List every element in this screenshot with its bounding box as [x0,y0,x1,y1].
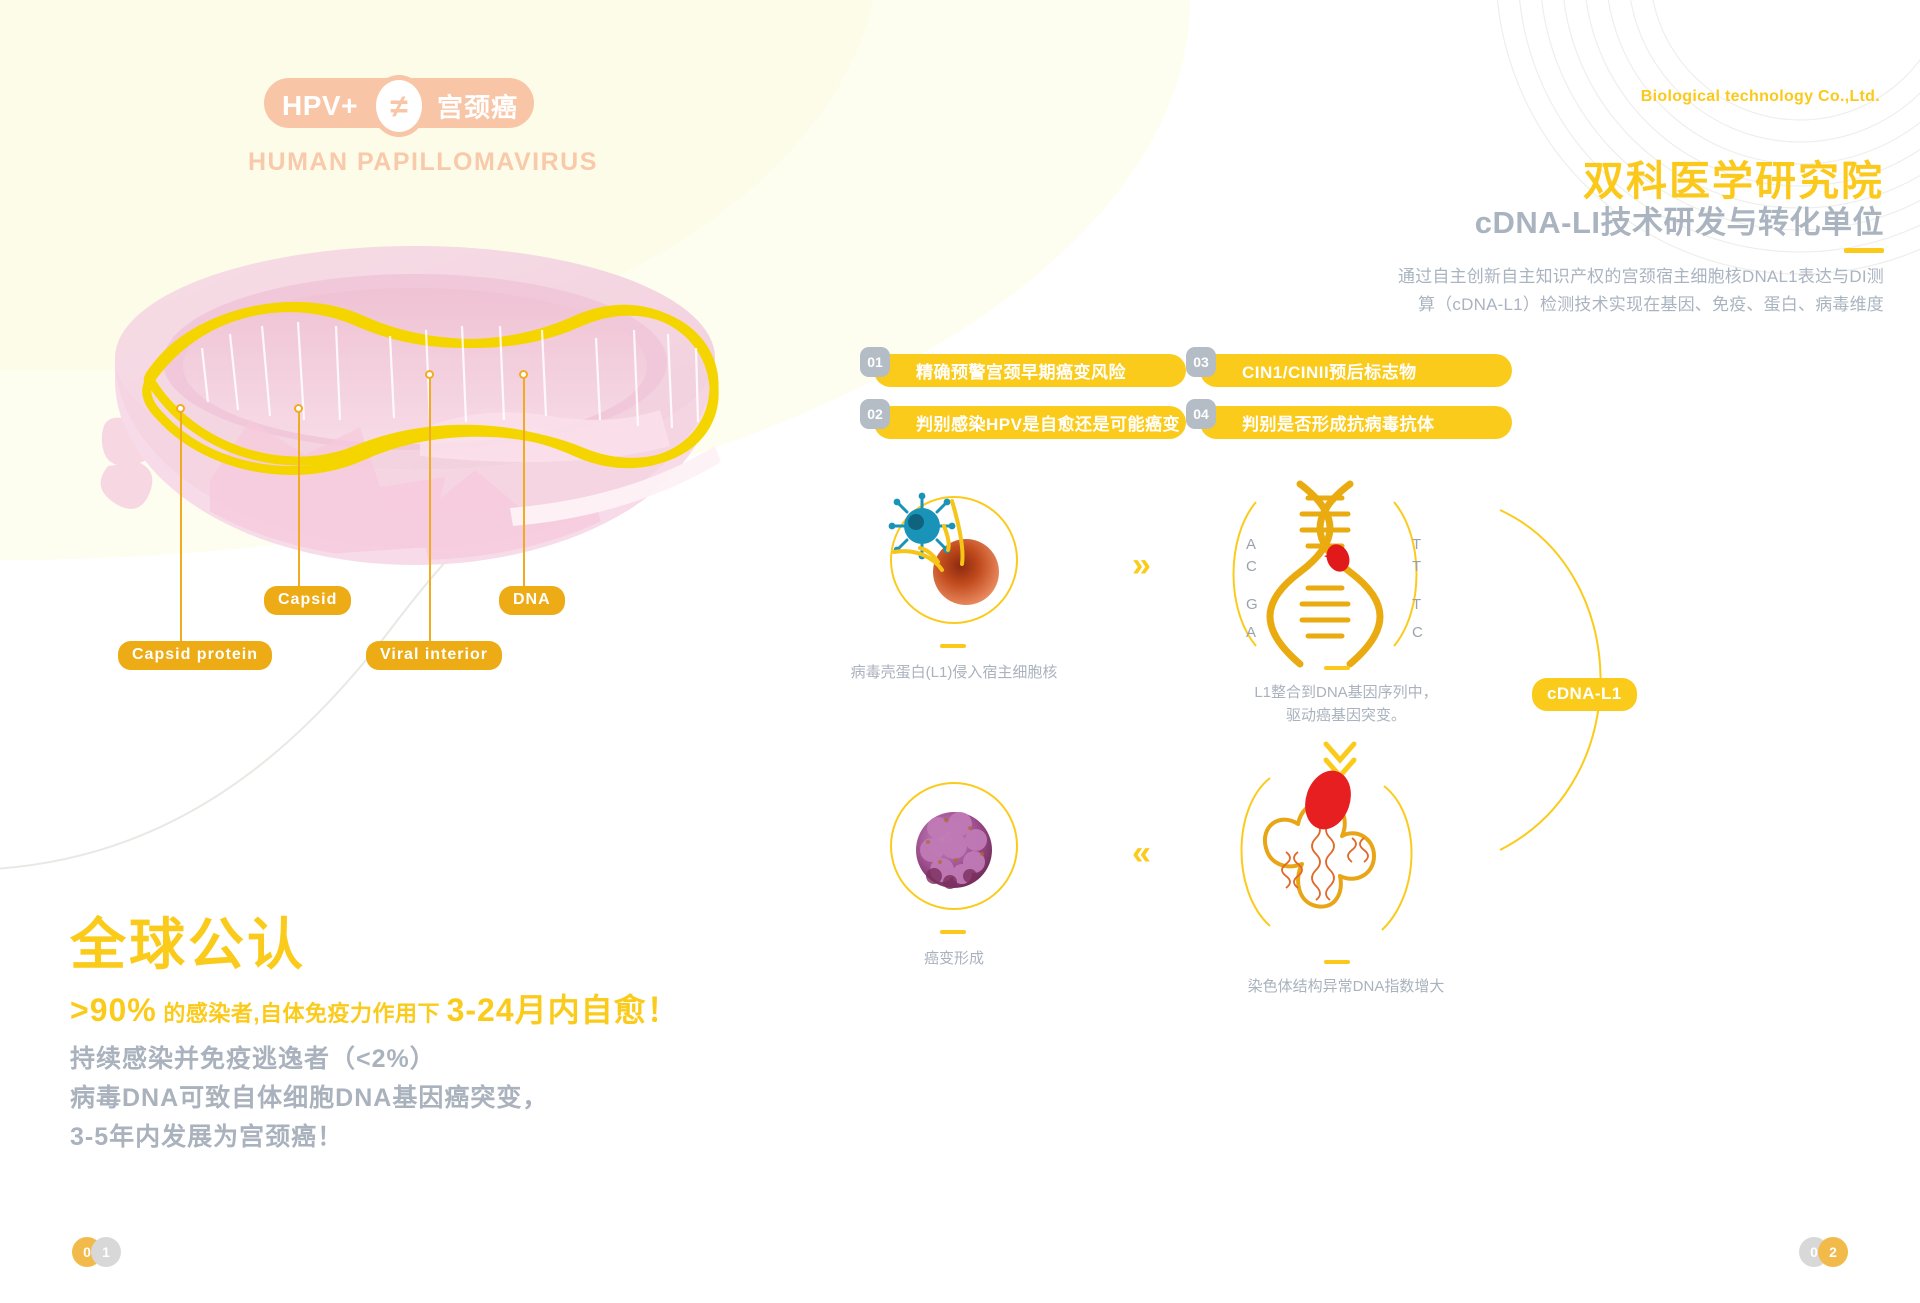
process-step-1-caption: 病毒壳蛋白(L1)侵入宿主细胞核 [824,662,1084,685]
arrow-right-icon: » [1132,548,1151,582]
feature-badge-01-bar: 精确预警宫颈早期癌变风险 [874,354,1186,387]
virus-invading-cell-icon [882,488,1032,638]
feature-badge-01-label: 精确预警宫颈早期癌变风险 [916,358,1126,383]
process-step-3-caption: 染色体结构异常DNA指数增大 [1216,976,1476,999]
feature-badge-04-label: 判别是否形成抗病毒抗体 [1242,410,1435,435]
process-step-4-rule [940,930,966,934]
page-digit-second-right: 2 [1818,1237,1848,1267]
global-consensus-title: 全球公认 [70,900,306,981]
dna-mutation-icon [1222,480,1452,670]
page-digit-second: 1 [91,1237,121,1267]
tag-capsid-protein: Capsid protein [118,641,272,670]
feature-badge-01-number: 01 [860,347,890,377]
hpv-subtitle: HUMAN PAPILLOMAVIRUS [248,148,598,177]
feature-badge-02-number: 02 [860,399,890,429]
callout-dot-capsid [294,404,303,413]
company-name: Biological technology Co.,Ltd. [1641,88,1880,106]
process-step-2-caption-line2: 驱动癌基因突变。 [1216,705,1476,728]
hpv-virion-illustration [90,230,740,630]
dna-base-left-4: A [1246,624,1256,641]
callout-line-capsid-protein [180,412,182,644]
dna-base-right-3: T [1412,596,1421,613]
callout-dot-dna [519,370,528,379]
callout-dot-viral-interior [425,370,434,379]
arrow-left-icon: « [1132,836,1151,870]
hpv-logo: HPV+ ≠ 宫颈癌 [264,78,534,134]
callout-line-capsid [298,412,300,586]
callout-line-dna [523,378,525,586]
body-line-3: 3-5年内发展为宫颈癌！ [70,1118,548,1157]
page-number-left: 0 1 [72,1237,121,1267]
self-clearance-stat: >90% 的感染者,自体免疫力作用下 3-24月内自愈！ [70,985,680,1031]
stat-percentage: >90% [70,992,157,1028]
feature-badge-03-label: CIN1/CINII预后标志物 [1242,358,1417,383]
cdna-l1-tag: cDNA-L1 [1532,678,1637,711]
process-step-4-caption: 癌变形成 [824,948,1084,971]
feature-badge-02-bar: 判别感染HPV是自愈还是可能癌变 [874,406,1186,439]
dna-base-right-4: C [1412,624,1423,641]
stat-months: 3-24月内自愈！ [447,992,680,1028]
feature-badge-group: 精确预警宫颈早期癌变风险 01 判别感染HPV是自愈还是可能癌变 02 CIN1… [860,340,1920,430]
not-equal-icon: ≠ [371,75,427,137]
intro-paragraph: 通过自主创新自主知识产权的宫颈宿主细胞核DNAL1表达与DI测算（cDNA-L1… [1394,263,1884,319]
process-step-2-rule [1324,666,1350,670]
tag-dna: DNA [499,586,565,615]
persistent-infection-body: 持续感染并免疫逃逸者（<2%） 病毒DNA可致自体细胞DNA基因癌突变， 3-5… [70,1040,548,1156]
dna-base-left-2: C [1246,558,1257,575]
process-step-1-rule [940,644,966,648]
feature-badge-03-bar: CIN1/CINII预后标志物 [1200,354,1512,387]
feature-badge-04-number: 04 [1186,399,1216,429]
callout-dot-capsid-protein [176,404,185,413]
tumour-mass-icon [904,798,1004,898]
feature-badge-02-label: 判别感染HPV是自愈还是可能癌变 [916,410,1180,435]
tag-viral-interior: Viral interior [366,641,502,670]
left-page-panel: HPV+ ≠ 宫颈癌 HUMAN PAPILLOMAVIRUS [0,0,1000,1303]
dna-base-right-1: T [1412,536,1421,553]
process-step-3-rule [1324,960,1350,964]
process-cycle-diagram: 病毒壳蛋白(L1)侵入宿主细胞核 » [860,470,1920,970]
dna-base-left-1: A [1246,536,1256,553]
right-page-panel: Biological technology Co.,Ltd. 双科医学研究院 c… [1000,0,1920,1303]
page-number-right: 0 2 [1799,1237,1848,1267]
body-line-1: 持续感染并免疫逃逸者（<2%） [70,1040,548,1079]
process-step-2-caption: L1整合到DNA基因序列中， 驱动癌基因突变。 [1216,682,1476,727]
feature-badge-04-bar: 判别是否形成抗病毒抗体 [1200,406,1512,439]
body-line-2: 病毒DNA可致自体细胞DNA基因癌突变， [70,1079,548,1118]
tag-capsid: Capsid [264,586,351,615]
callout-line-viral-interior [429,378,431,644]
hpv-logo-left-text: HPV+ [282,90,358,122]
stat-middle-text: 的感染者,自体免疫力作用下 [157,1001,447,1026]
title-divider-rule [1844,248,1884,253]
dna-base-left-3: G [1246,596,1258,613]
feature-badge-03-number: 03 [1186,347,1216,377]
dna-base-right-2: T [1412,558,1421,575]
chromosome-abnormal-icon [1224,760,1454,960]
hpv-logo-right-text: 宫颈癌 [437,88,518,125]
process-step-2-caption-line1: L1整合到DNA基因序列中， [1216,682,1476,705]
organization-subtitle: cDNA-LI技术研发与转化单位 [1475,197,1884,242]
